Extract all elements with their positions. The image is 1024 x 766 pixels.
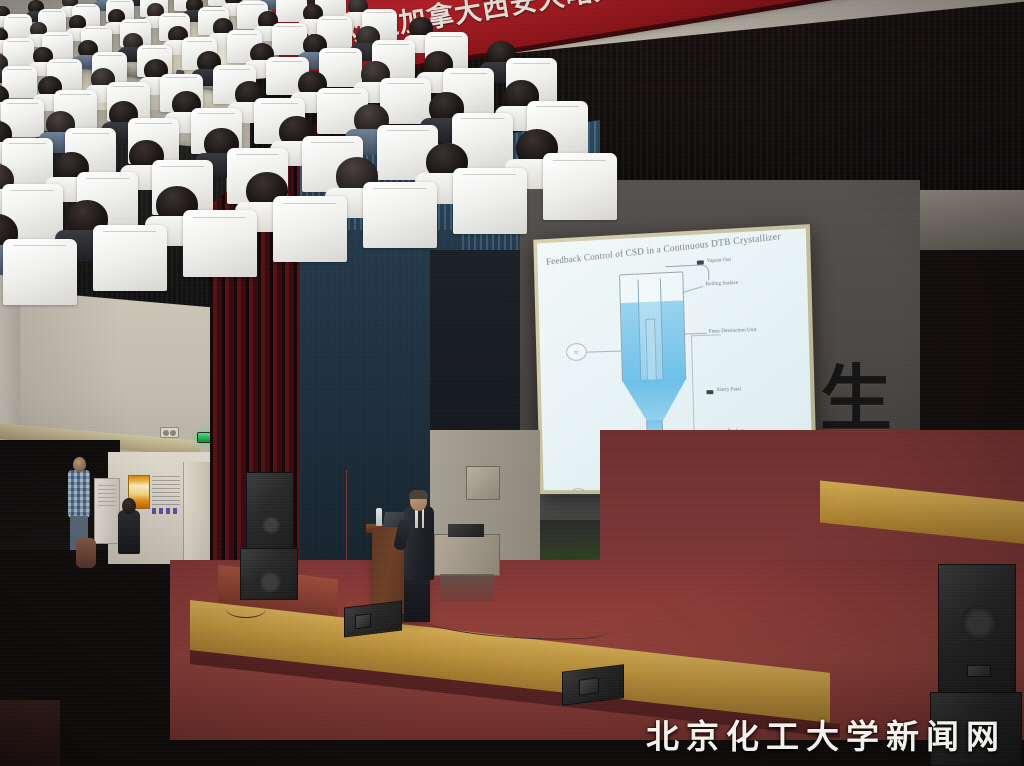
aisle-floor bbox=[0, 700, 60, 766]
audience-seat bbox=[453, 168, 527, 234]
recycle-pipe-top bbox=[691, 334, 721, 336]
pa-speaker-subwoofer bbox=[240, 548, 298, 600]
pa-speaker-top bbox=[246, 472, 294, 554]
seated-person-foreground-side bbox=[76, 538, 96, 568]
controller-fc: FC bbox=[568, 488, 589, 490]
standing-person-plaid-shirt bbox=[68, 470, 90, 518]
controller-tc: TC bbox=[566, 343, 587, 361]
wall-notice-text bbox=[152, 476, 180, 508]
presenter-legs bbox=[404, 576, 430, 622]
vapour-arrow-icon bbox=[697, 260, 704, 264]
audience-seat bbox=[272, 23, 308, 55]
label-boiling-surface: Boiling Surface bbox=[705, 280, 738, 288]
pa-speaker-right bbox=[938, 564, 1016, 696]
audience-seat bbox=[543, 153, 617, 219]
water-bottle bbox=[376, 508, 382, 526]
av-table bbox=[434, 534, 500, 576]
seated-person-side-head bbox=[122, 498, 136, 514]
audience-seat bbox=[363, 182, 437, 248]
controller-signal-line bbox=[587, 351, 621, 353]
av-table-legs bbox=[440, 574, 494, 602]
audience-seat bbox=[93, 225, 167, 291]
air-conditioner-unit bbox=[94, 478, 120, 544]
wall-outlet bbox=[160, 427, 179, 438]
seated-person-side bbox=[118, 510, 140, 554]
label-slurry-feed: Slurry Feed bbox=[716, 386, 741, 393]
audience-seat bbox=[273, 196, 347, 262]
presenter-hair bbox=[409, 490, 428, 499]
audience-seat bbox=[183, 210, 257, 276]
feed-arrow-icon bbox=[706, 390, 713, 394]
standing-person-head bbox=[73, 457, 86, 472]
wall-cable-run bbox=[346, 470, 356, 580]
lecture-hall-photo: 生 ival fo 北京化工大学学生会 Feedback Control of … bbox=[0, 0, 1024, 766]
vapour-outlet-pipe bbox=[665, 264, 709, 282]
presenter-tie bbox=[418, 510, 422, 528]
av-equipment-box bbox=[448, 524, 484, 537]
speaker-cable bbox=[226, 600, 266, 618]
audience-seat bbox=[3, 239, 77, 305]
crystallizer-cone bbox=[622, 379, 687, 422]
news-site-watermark: 北京化工大学新闻网 bbox=[646, 710, 1006, 758]
wall-notice-icons bbox=[152, 508, 180, 514]
leader-line bbox=[682, 286, 703, 293]
label-vapour-out: Vapour Out bbox=[707, 257, 731, 264]
backstage-wall-box bbox=[466, 466, 500, 500]
